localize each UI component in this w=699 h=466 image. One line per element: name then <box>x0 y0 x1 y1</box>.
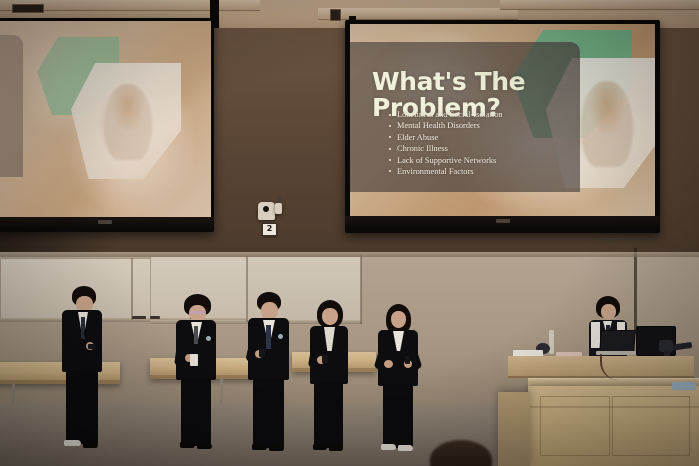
presenter-2-tie <box>194 326 198 344</box>
podium-panel <box>612 396 690 456</box>
presenter-5-phone <box>405 356 410 364</box>
presenter-2-shoe <box>180 442 195 448</box>
ceiling-vent-center <box>330 9 341 21</box>
presenter-1-legs <box>66 370 98 444</box>
right-projection-screen: What's The Problem? Loneliness and Socia… <box>345 20 660 233</box>
wall-panel-seam-right <box>634 248 637 334</box>
ceiling-vent-left <box>12 4 44 13</box>
presenter-4-phone <box>322 355 328 363</box>
lecture-hall-photo: What's The Problem? Loneliness and Socia… <box>0 0 699 466</box>
presenter-4-shoe <box>329 445 343 451</box>
presenter-3-phone <box>259 349 265 357</box>
presenter-3-crest <box>278 334 283 339</box>
presenter-5-shoe <box>398 445 413 451</box>
projector-lens-icon <box>263 206 269 212</box>
presenter-1 <box>56 286 112 452</box>
wall-rail <box>0 252 699 257</box>
presenter-3-legs <box>253 378 284 448</box>
wall-panel-seam <box>131 258 133 320</box>
presenter-2-crest <box>206 336 211 341</box>
left-slide-content <box>0 21 211 217</box>
presenter-1-shoe <box>83 442 98 448</box>
presenter-2-papers <box>190 354 198 366</box>
projector-side-module <box>275 203 282 214</box>
presenter-4 <box>306 300 354 452</box>
right-screen-bottom-bar <box>345 216 660 230</box>
microphone-stand <box>549 330 554 354</box>
presenter-4-face <box>322 308 338 325</box>
podium-panel <box>540 396 610 456</box>
presenter-1-shoe <box>64 440 81 446</box>
presenter-3-tie <box>266 325 271 349</box>
ceiling-beam-right <box>500 0 699 10</box>
presenter-5-face <box>391 311 406 328</box>
operator-face <box>601 304 616 320</box>
presenter-3 <box>244 292 296 452</box>
podium-folder <box>672 382 696 390</box>
right-slide-content: What's The Problem? Loneliness and Socia… <box>350 24 655 216</box>
presenter-2-shoe <box>197 443 212 449</box>
podium-side-return <box>498 392 530 466</box>
presenter-5 <box>374 304 424 454</box>
presenter-2-legs <box>181 378 211 446</box>
presenter-5-shoe <box>381 444 396 450</box>
presenter-2 <box>172 294 224 452</box>
presenter-2-glasses <box>190 311 205 314</box>
presenter-3-shoe <box>269 445 284 451</box>
presenter-5-legs <box>383 384 413 448</box>
ceiling-beam-center <box>318 8 518 20</box>
wall-panel-seam <box>360 254 362 324</box>
presenter-3-shoe <box>252 444 267 450</box>
presenter-4-legs <box>314 382 343 448</box>
presenter-4-shoe <box>313 444 327 450</box>
presenter-1-phone <box>88 344 95 349</box>
left-projection-screen <box>0 18 214 232</box>
whiteboard-marker <box>132 316 146 319</box>
presenter-5-hand-left <box>384 360 393 368</box>
whiteboard-marker <box>150 316 160 319</box>
podium-seam <box>528 406 699 408</box>
left-screen-bottom-bar <box>0 217 214 230</box>
room-number-sign: 2 <box>262 223 277 236</box>
operator-shirt-left <box>591 322 600 348</box>
